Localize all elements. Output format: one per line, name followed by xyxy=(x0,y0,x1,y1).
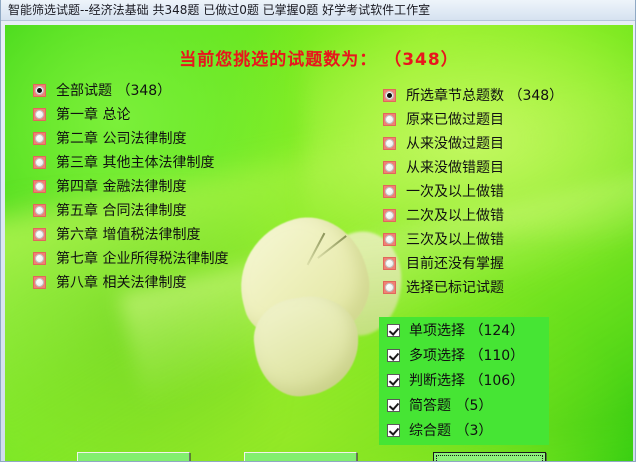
radio-icon[interactable] xyxy=(383,281,396,294)
filter-option-label: 目前还没有掌握 xyxy=(406,253,504,273)
filter-option-row[interactable]: 二次及以上做错 xyxy=(383,204,613,226)
radio-icon[interactable] xyxy=(383,233,396,246)
application-window: 智能筛选试题--经济法基础 共348题 已做过0题 已掌握0题 好学考试软件工作… xyxy=(0,0,636,462)
chapter-option-row[interactable]: 第五章 合同法律制度 xyxy=(33,199,333,221)
chapter-option-label: 第一章 总论 xyxy=(56,104,130,124)
chapter-option-row[interactable]: 第三章 其他主体法律制度 xyxy=(33,151,333,173)
focus-ring xyxy=(436,455,543,461)
checkbox-icon[interactable] xyxy=(387,349,400,362)
question-type-label: 多项选择 （110） xyxy=(409,345,524,365)
filter-option-row[interactable]: 所选章节总题数 （348） xyxy=(383,84,613,106)
chapter-option-label: 第四章 金融法律制度 xyxy=(56,176,186,196)
question-type-row[interactable]: 单项选择 （124） xyxy=(387,318,549,342)
title-bar: 智能筛选试题--经济法基础 共348题 已做过0题 已掌握0题 好学考试软件工作… xyxy=(1,0,636,21)
chapter-option-label: 第五章 合同法律制度 xyxy=(56,200,186,220)
filter-option-row[interactable]: 三次及以上做错 xyxy=(383,228,613,250)
chapter-option-row[interactable]: 第二章 公司法律制度 xyxy=(33,127,333,149)
filter-option-label: 一次及以上做错 xyxy=(406,181,504,201)
filter-option-row[interactable]: 一次及以上做错 xyxy=(383,180,613,202)
radio-icon[interactable] xyxy=(383,185,396,198)
question-type-row[interactable]: 综合题 （3） xyxy=(387,418,549,442)
checkbox-icon[interactable] xyxy=(387,399,400,412)
radio-icon[interactable] xyxy=(33,132,46,145)
window-title: 智能筛选试题--经济法基础 共348题 已做过0题 已掌握0题 好学考试软件工作… xyxy=(8,2,430,18)
radio-icon[interactable] xyxy=(33,180,46,193)
question-type-label: 判断选择 （106） xyxy=(409,370,524,390)
chapter-option-row[interactable]: 第八章 相关法律制度 xyxy=(33,271,333,293)
radio-icon[interactable] xyxy=(383,209,396,222)
action-button-1[interactable] xyxy=(77,452,190,461)
radio-icon[interactable] xyxy=(33,276,46,289)
filter-option-row[interactable]: 选择已标记试题 xyxy=(383,276,613,298)
question-type-panel: 单项选择 （124） 多项选择 （110） 判断选择 （106） 简答题 （5）… xyxy=(379,317,549,445)
filter-option-label: 二次及以上做错 xyxy=(406,205,504,225)
question-type-row[interactable]: 判断选择 （106） xyxy=(387,368,549,392)
radio-icon[interactable] xyxy=(33,252,46,265)
chapter-option-label: 第二章 公司法律制度 xyxy=(56,128,186,148)
radio-icon[interactable] xyxy=(383,137,396,150)
action-button-3[interactable] xyxy=(433,452,546,461)
radio-icon[interactable] xyxy=(383,89,396,102)
chapter-option-label: 第七章 企业所得税法律制度 xyxy=(56,248,228,268)
chapter-option-label: 全部试题 （348） xyxy=(56,80,171,100)
filter-option-label: 从来没做错题目 xyxy=(406,157,504,177)
chapter-option-row[interactable]: 第一章 总论 xyxy=(33,103,333,125)
radio-icon[interactable] xyxy=(33,156,46,169)
filter-option-label: 三次及以上做错 xyxy=(406,229,504,249)
filter-radio-group: 所选章节总题数 （348） 原来已做过题目 从来没做过题目 从来没做错题目 一次… xyxy=(383,84,613,300)
client-area: 当前您挑选的试题数为： （348） 全部试题 （348） 第一章 总论 第二章 … xyxy=(5,25,633,461)
chapter-option-label: 第六章 增值税法律制度 xyxy=(56,224,200,244)
action-button-2[interactable] xyxy=(244,452,357,461)
radio-icon[interactable] xyxy=(33,108,46,121)
chapter-option-label: 第八章 相关法律制度 xyxy=(56,272,186,292)
page-title: 当前您挑选的试题数为： （348） xyxy=(5,45,633,70)
radio-icon[interactable] xyxy=(33,204,46,217)
filter-option-row[interactable]: 从来没做错题目 xyxy=(383,156,613,178)
radio-icon[interactable] xyxy=(383,257,396,270)
checkbox-icon[interactable] xyxy=(387,374,400,387)
filter-option-row[interactable]: 原来已做过题目 xyxy=(383,108,613,130)
radio-icon[interactable] xyxy=(33,84,46,97)
question-type-row[interactable]: 多项选择 （110） xyxy=(387,343,549,367)
question-type-label: 简答题 （5） xyxy=(409,395,492,415)
chapter-option-row[interactable]: 第四章 金融法律制度 xyxy=(33,175,333,197)
chapter-radio-group: 全部试题 （348） 第一章 总论 第二章 公司法律制度 第三章 其他主体法律制… xyxy=(33,79,333,295)
filter-option-row[interactable]: 从来没做过题目 xyxy=(383,132,613,154)
filter-option-label: 原来已做过题目 xyxy=(406,109,504,129)
question-type-label: 综合题 （3） xyxy=(409,420,492,440)
radio-icon[interactable] xyxy=(33,228,46,241)
chapter-option-label: 第三章 其他主体法律制度 xyxy=(56,152,214,172)
filter-option-label: 所选章节总题数 （348） xyxy=(406,85,563,105)
chapter-option-row[interactable]: 第六章 增值税法律制度 xyxy=(33,223,333,245)
question-type-row[interactable]: 简答题 （5） xyxy=(387,393,549,417)
radio-icon[interactable] xyxy=(383,113,396,126)
question-type-label: 单项选择 （124） xyxy=(409,320,524,340)
chapter-option-row[interactable]: 全部试题 （348） xyxy=(33,79,333,101)
checkbox-icon[interactable] xyxy=(387,424,400,437)
radio-icon[interactable] xyxy=(383,161,396,174)
filter-option-label: 选择已标记试题 xyxy=(406,277,504,297)
checkbox-icon[interactable] xyxy=(387,324,400,337)
chapter-option-row[interactable]: 第七章 企业所得税法律制度 xyxy=(33,247,333,269)
filter-option-label: 从来没做过题目 xyxy=(406,133,504,153)
filter-option-row[interactable]: 目前还没有掌握 xyxy=(383,252,613,274)
